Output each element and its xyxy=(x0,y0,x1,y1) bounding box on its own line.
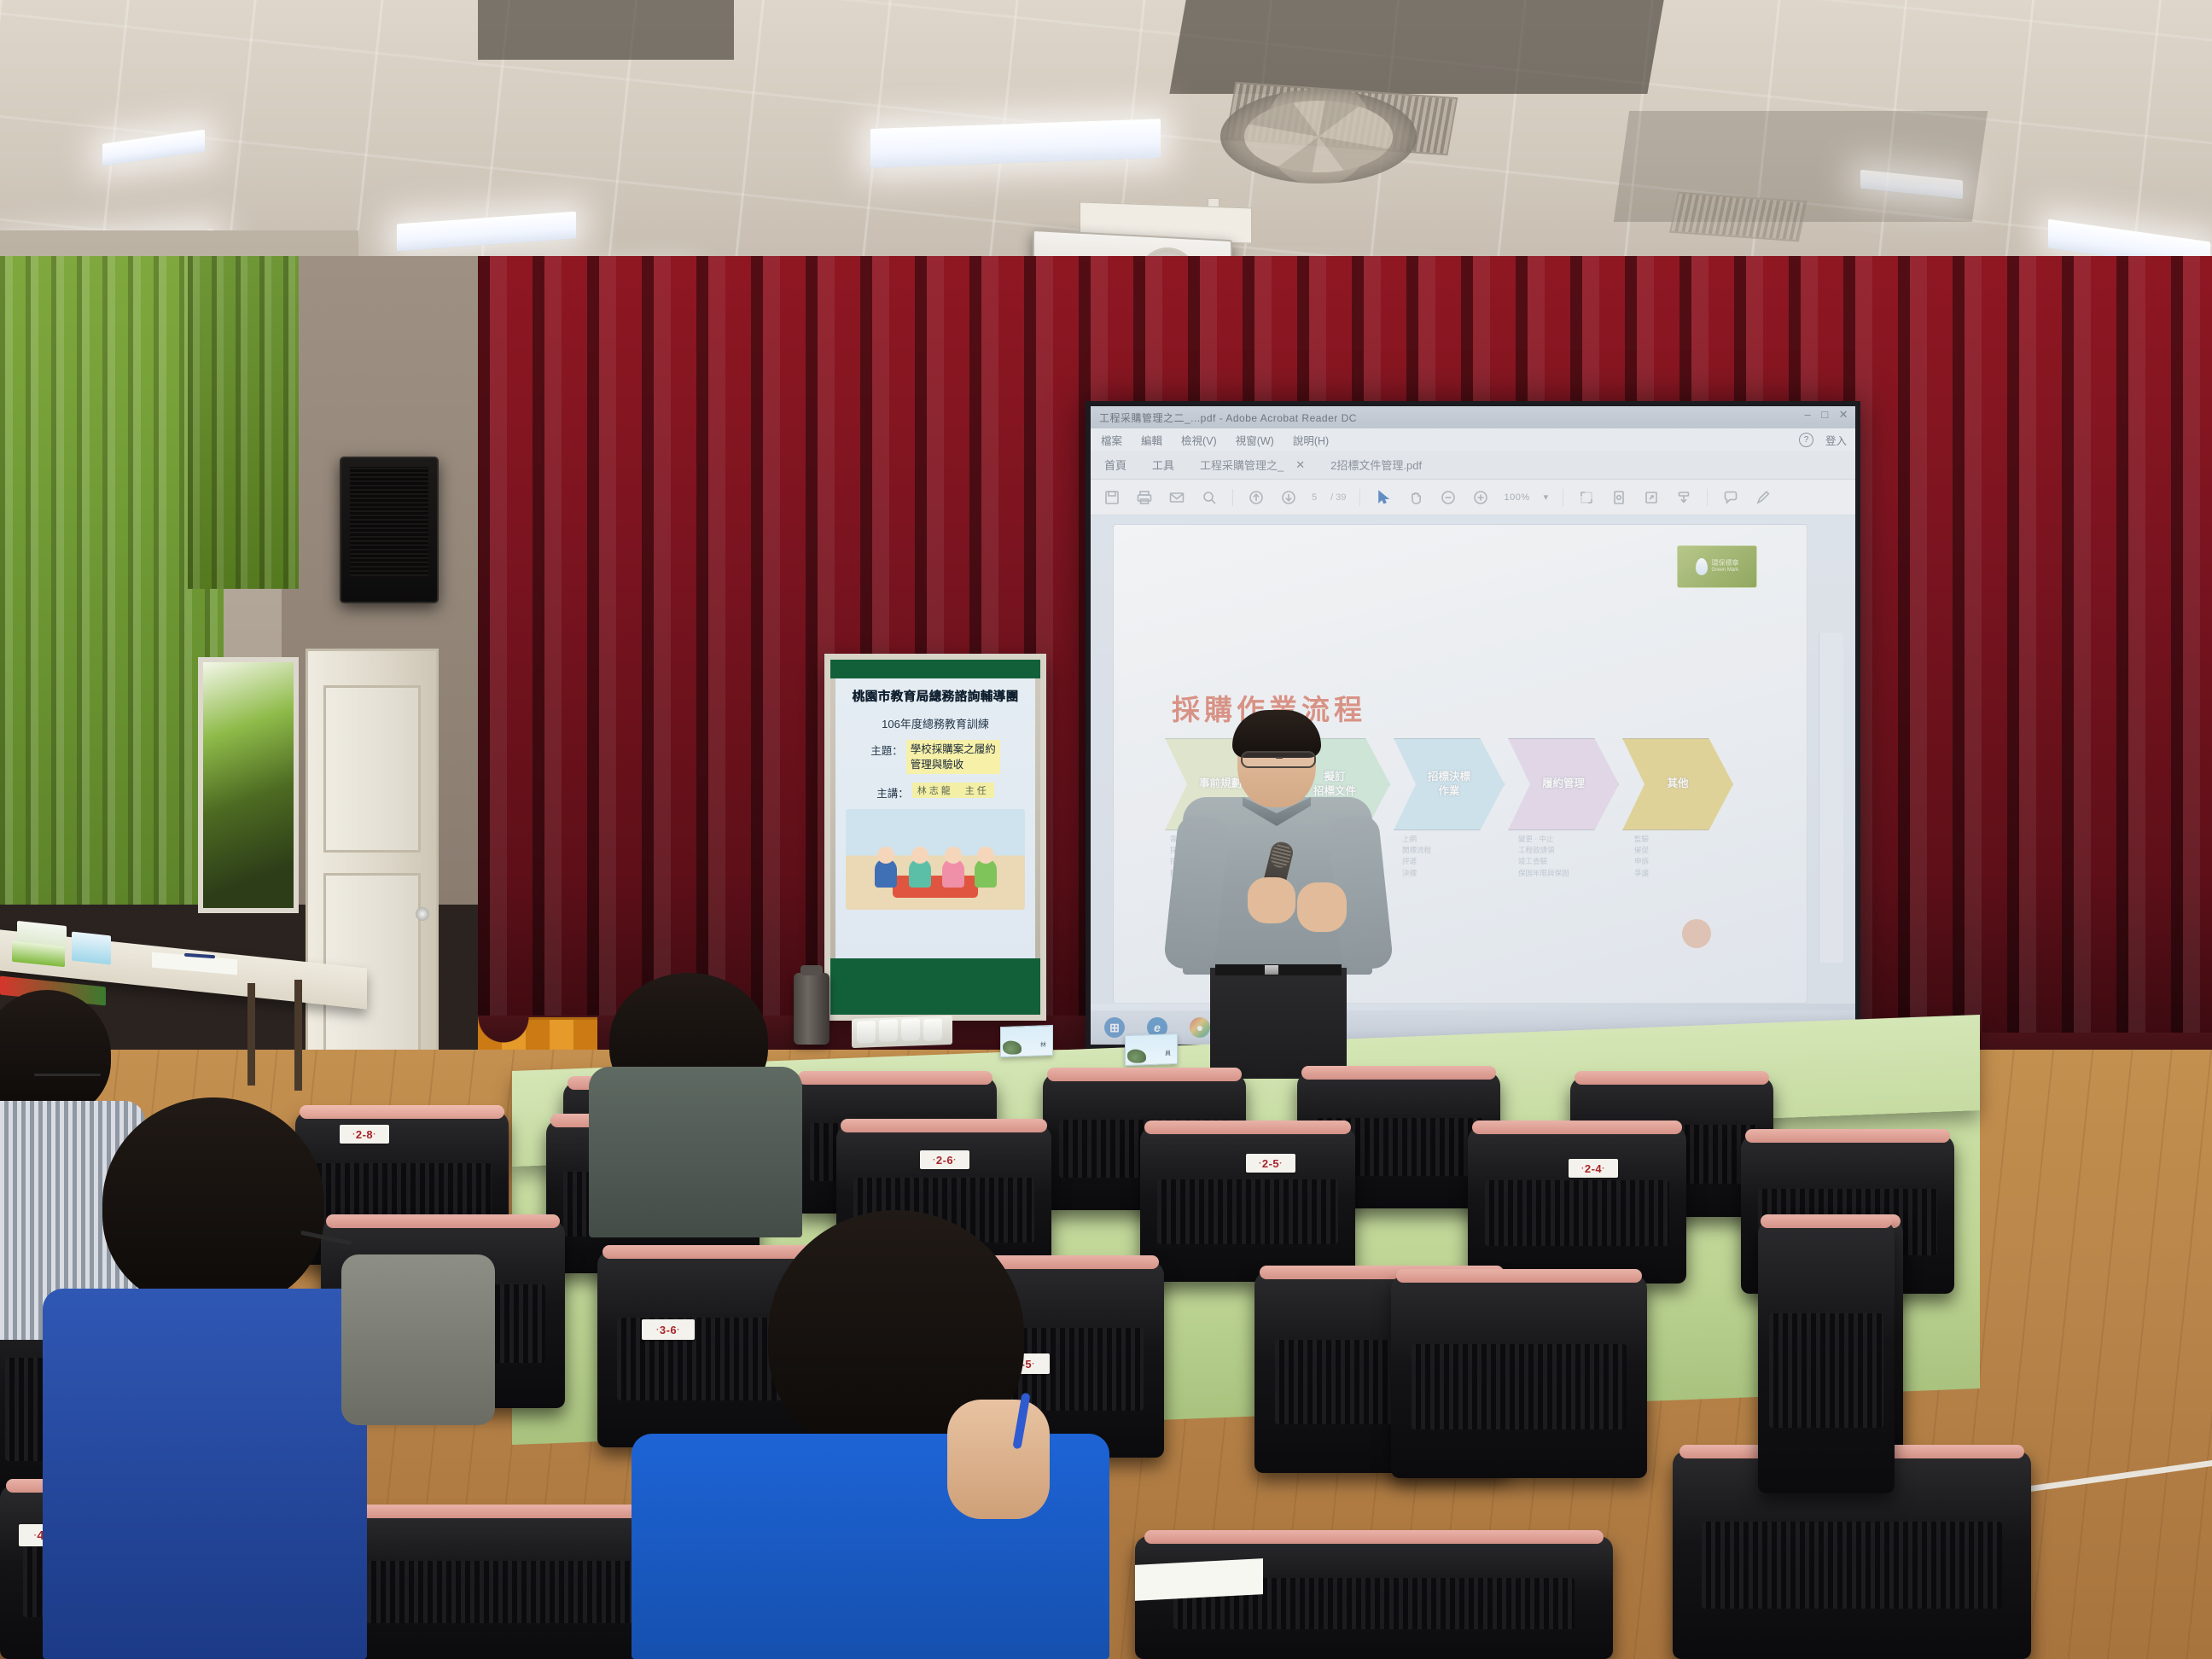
notebook xyxy=(1135,1558,1263,1601)
page-current-input[interactable]: 5 xyxy=(1312,492,1317,503)
audience-torso xyxy=(589,1067,802,1237)
name-card: 員 xyxy=(1125,1033,1178,1066)
flow-detail-4: 變更 · 中止 工程款請領 竣工查驗 保固年限與保固 xyxy=(1513,834,1626,879)
presenter-hand-right xyxy=(1297,882,1347,932)
window-curtain-valance xyxy=(188,256,299,589)
event-poster-board: 桃園市教育局總務諮詢輔導團 106年度總務教育訓練 主題： 學校採購案之履約 管… xyxy=(824,654,1046,1021)
paper-cup xyxy=(857,1021,876,1044)
acrobat-title-bar: 工程采購管理之二_...pdf - Adobe Acrobat Reader D… xyxy=(1091,406,1855,428)
room-scene: 工程采購管理之二_...pdf - Adobe Acrobat Reader D… xyxy=(0,0,2212,1659)
door-knob-icon[interactable] xyxy=(416,907,429,921)
tab-tools[interactable]: 工具 xyxy=(1152,457,1174,473)
acrobat-menu-bar[interactable]: 檔案 編輯 檢視(V) 視窗(W) 說明(H) ? 登入 xyxy=(1091,428,1855,451)
green-mark-logo: 環保標章 Green Mark xyxy=(1677,545,1757,588)
select-tool-icon[interactable] xyxy=(1374,488,1393,507)
comment-icon[interactable] xyxy=(1721,488,1740,507)
zoom-level-value[interactable]: 100% xyxy=(1504,492,1529,503)
name-card-text: 林 xyxy=(1040,1040,1047,1049)
doc-tab-1[interactable]: 工程采購管理之_ ✕ xyxy=(1200,457,1305,473)
acrobat-toolbar[interactable]: 5 / 39 100% ▾ xyxy=(1091,480,1855,515)
audience-head xyxy=(102,1097,324,1309)
close-icon[interactable]: ✕ xyxy=(1839,408,1848,422)
door-icon[interactable] xyxy=(306,649,439,1115)
menu-item-help[interactable]: 說明(H) xyxy=(1293,432,1329,448)
poster-top-band xyxy=(830,660,1040,678)
poster-year-line: 106年度總務教育訓練 xyxy=(846,715,1025,731)
poster-speaker-row: 主講： 林志龍 主任 xyxy=(846,783,1025,800)
audience-torso xyxy=(43,1289,367,1659)
ceiling-shadow xyxy=(1169,0,1663,94)
illustration-child xyxy=(975,859,997,888)
seat-3-3[interactable] xyxy=(1391,1275,1647,1478)
windows-start-icon[interactable]: ⊞ xyxy=(1104,1017,1125,1038)
toolbar-separator xyxy=(1232,489,1233,506)
menu-item-edit[interactable]: 編輯 xyxy=(1141,432,1162,448)
seat-4-4[interactable] xyxy=(1135,1536,1613,1659)
poster-topic-value: 學校採購案之履約 管理與驗收 xyxy=(906,740,1000,774)
flow-detail-5: 監驗 催促 申訴 爭議 xyxy=(1629,834,1742,879)
doc-tab-2-label: 2招標文件管理.pdf xyxy=(1330,457,1422,473)
page-total-label: / 39 xyxy=(1330,492,1346,503)
seat-2-4[interactable] xyxy=(1468,1126,1686,1284)
menu-item-window[interactable]: 視窗(W) xyxy=(1236,432,1274,448)
download-icon[interactable] xyxy=(1674,488,1693,507)
seat-tag-2-4: ·2-4· xyxy=(1569,1159,1618,1178)
glasses-icon xyxy=(1241,751,1316,768)
sign-in-label[interactable]: 登入 xyxy=(1825,432,1847,448)
illustration-table xyxy=(893,876,979,898)
search-icon[interactable] xyxy=(1200,488,1219,507)
event-poster: 桃園市教育局總務諮詢輔導團 106年度總務教育訓練 主題： 學校採購案之履約 管… xyxy=(835,678,1035,958)
ceiling-fan-icon xyxy=(1220,90,1417,183)
page-badge xyxy=(1682,919,1711,948)
poster-bottom-band xyxy=(830,958,1040,1015)
print-icon[interactable] xyxy=(1135,488,1154,507)
speaker-icon xyxy=(340,457,439,603)
presenter xyxy=(1176,715,1381,1074)
glasses-icon xyxy=(34,1074,101,1076)
minimize-icon[interactable]: – xyxy=(1805,408,1812,422)
question-icon[interactable]: ? xyxy=(1799,433,1813,447)
flow-step-4: 履約管理 xyxy=(1508,738,1619,830)
paper-cup xyxy=(901,1018,920,1041)
paper-cup xyxy=(879,1019,898,1042)
window-controls[interactable]: – □ ✕ xyxy=(1805,408,1849,422)
acrobat-title-text: 工程采購管理之二_...pdf - Adobe Acrobat Reader D… xyxy=(1099,410,1357,425)
presenter-hand-left xyxy=(1248,877,1295,923)
doc-tab-2[interactable]: 2招標文件管理.pdf xyxy=(1330,457,1422,473)
fit-page-icon[interactable] xyxy=(1577,488,1596,507)
flow-detail-3: 上網 開標流程 評選 決標 xyxy=(1397,834,1510,879)
fullscreen-icon[interactable] xyxy=(1642,488,1661,507)
poster-topic-line1: 學校採購案之履約 xyxy=(911,742,996,757)
name-card-text: 員 xyxy=(1165,1049,1172,1057)
email-icon[interactable] xyxy=(1167,488,1186,507)
fit-width-icon[interactable] xyxy=(1610,488,1628,507)
zoom-out-icon[interactable] xyxy=(1439,488,1458,507)
zoom-in-icon[interactable] xyxy=(1471,488,1490,507)
flow-step-3: 招標決標 作業 xyxy=(1394,738,1505,830)
hand-tool-icon[interactable] xyxy=(1406,488,1425,507)
stage-valance xyxy=(478,1017,597,1054)
poster-organization: 桃園市教育局總務諮詢輔導團 xyxy=(846,687,1025,705)
poster-topic-line2: 管理與驗收 xyxy=(911,757,996,772)
drop-icon xyxy=(1696,558,1708,575)
seat-2-5[interactable] xyxy=(1140,1126,1355,1282)
seat-tag-3-6: ·3-6· xyxy=(642,1319,695,1340)
page-up-icon[interactable] xyxy=(1247,488,1266,507)
tab-home[interactable]: 首頁 xyxy=(1104,457,1126,473)
seat-tag-2-6: ·2-6· xyxy=(920,1150,969,1169)
logo-line-1: 環保標章 xyxy=(1712,560,1739,568)
page-down-icon[interactable] xyxy=(1279,488,1298,507)
window xyxy=(198,657,299,913)
table-leg xyxy=(294,980,302,1091)
flow-step-5: 其他 xyxy=(1622,738,1733,830)
menu-item-view[interactable]: 檢視(V) xyxy=(1181,432,1217,448)
audience-jacket xyxy=(341,1254,495,1425)
poster-illustration xyxy=(846,809,1025,910)
door-panel xyxy=(323,685,421,853)
illustration-child xyxy=(875,859,897,888)
poster-speaker-value: 林志龍 主任 xyxy=(912,783,994,798)
illustration-child xyxy=(909,859,931,888)
acrobat-right-pane[interactable] xyxy=(1819,633,1843,963)
audience-head xyxy=(0,990,111,1118)
table-leg xyxy=(247,983,255,1086)
seat-aisle[interactable] xyxy=(1758,1220,1895,1493)
presenter-trousers xyxy=(1210,968,1347,1079)
cup-tray xyxy=(852,1016,952,1048)
thermos-flask xyxy=(794,973,829,1045)
name-card: 林 xyxy=(1000,1025,1053,1057)
logo-line-2: Green Mark xyxy=(1712,568,1739,573)
wet-wipes-pack xyxy=(72,932,111,965)
doc-tab-1-label: 工程采購管理之_ xyxy=(1200,457,1284,473)
toolbar-separator xyxy=(1359,489,1360,506)
speaker-grille xyxy=(350,467,428,576)
menu-item-file[interactable]: 檔案 xyxy=(1101,432,1122,448)
maximize-icon[interactable]: □ xyxy=(1821,408,1828,422)
doc-tab-1-close-icon[interactable]: ✕ xyxy=(1295,458,1305,472)
paper-cup xyxy=(923,1018,942,1041)
poster-topic-label: 主題： xyxy=(870,740,903,758)
toolbar-separator xyxy=(1707,489,1708,506)
sign-icon[interactable] xyxy=(1754,488,1773,507)
presenter-belt xyxy=(1215,964,1342,975)
save-icon[interactable] xyxy=(1103,488,1121,507)
seat-tag-2-5: ·2-5· xyxy=(1246,1154,1295,1173)
poster-speaker-label: 主講： xyxy=(876,783,909,800)
acrobat-tab-bar[interactable]: 首頁 工具 工程采購管理之_ ✕ 2招標文件管理.pdf xyxy=(1091,451,1855,480)
poster-topic-row: 主題： 學校採購案之履約 管理與驗收 xyxy=(846,740,1025,774)
toolbar-separator xyxy=(1563,489,1563,506)
seat-tag-2-8: ·2-8· xyxy=(340,1125,389,1144)
illustration-child xyxy=(942,859,964,888)
audience-hand xyxy=(947,1400,1050,1519)
chevron-down-icon[interactable]: ▾ xyxy=(1544,492,1549,503)
ceiling-shadow xyxy=(478,0,734,60)
